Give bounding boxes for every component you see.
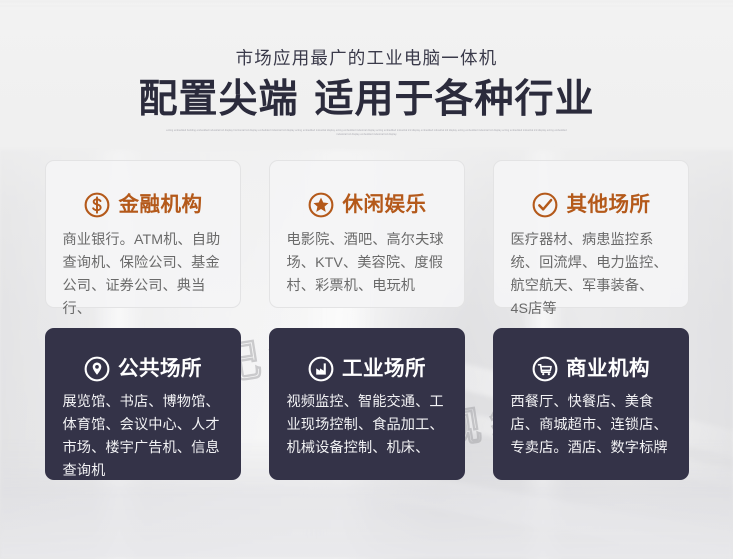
page-title-part-1: 配置尖端 — [138, 78, 298, 121]
card-financial-body: 商业银行。ATM机、自助查询机、保险公司、基金公司、证券公司、典当行、 — [63, 229, 223, 322]
card-other-body: 医疗器材、病患监控系统、回流焊、电力监控、航空航天、军事装备、4S店等 — [511, 229, 671, 322]
card-commercial[interactable]: 商业机构 西餐厅、快餐店、美食店、商城超市、连锁店、专卖店。酒店、数字标牌 — [493, 328, 689, 480]
banner-subtitle: 市场应用最广的工业电脑一体机 — [0, 48, 733, 69]
card-other-title: 其他场所 — [567, 195, 651, 216]
card-industrial-title: 工业场所 — [342, 359, 426, 380]
card-leisure-title: 休闲娱乐 — [343, 195, 427, 216]
card-commercial-title: 商业机构 — [566, 359, 650, 380]
card-public[interactable]: 公共场所 展览馆、书店、博物馆、体育馆、会议中心、人才市场、楼宇广告机、信息查询… — [45, 328, 241, 480]
location-pin-circle-icon — [83, 355, 111, 383]
factory-circle-icon — [307, 355, 335, 383]
card-financial-title: 金融机构 — [119, 195, 203, 216]
card-industrial[interactable]: 工业场所 视频监控、智能交通、工业现场控制、食品加工、机械设备控制、机床、 — [269, 328, 465, 480]
page-title-part-2: 适用于各种行业 — [315, 78, 595, 121]
dollar-circle-icon — [83, 191, 111, 219]
card-other[interactable]: 其他场所 医疗器材、病患监控系统、回流焊、电力监控、航空航天、军事装备、4S店等 — [493, 160, 689, 308]
card-industrial-body: 视频监控、智能交通、工业现场控制、食品加工、机械设备控制、机床、 — [287, 391, 447, 460]
card-industrial-head: 工业场所 — [287, 355, 447, 383]
industry-card-grid: 金融机构 商业银行。ATM机、自助查询机、保险公司、基金公司、证券公司、典当行、… — [45, 160, 689, 480]
card-public-title: 公共场所 — [118, 359, 202, 380]
banner-header: 市场应用最广的工业电脑一体机 配置尖端适用于各种行业 ecting embedd… — [0, 0, 733, 138]
page-title: 配置尖端适用于各种行业 — [0, 78, 733, 122]
card-financial-head: 金融机构 — [63, 191, 223, 219]
shopping-cart-circle-icon — [531, 355, 559, 383]
card-public-body: 展览馆、书店、博物馆、体育馆、会议中心、人才市场、楼宇广告机、信息查询机 — [63, 391, 223, 484]
card-leisure-body: 电影院、酒吧、高尔夫球场、KTV、美容院、度假村、彩票机、电玩机 — [287, 229, 447, 298]
card-commercial-body: 西餐厅、快餐店、美食店、商城超市、连锁店、专卖店。酒店、数字标牌 — [511, 391, 671, 460]
decorative-microtext: ecting embedded building embedded indust… — [165, 129, 569, 138]
card-financial[interactable]: 金融机构 商业银行。ATM机、自助查询机、保险公司、基金公司、证券公司、典当行、 — [45, 160, 241, 308]
card-other-head: 其他场所 — [511, 191, 671, 219]
check-circle-icon — [531, 191, 559, 219]
card-leisure-head: 休闲娱乐 — [287, 191, 447, 219]
promo-banner: 创视纪触 创视纪 市场应用最广的工业电脑一体机 配置尖端适用于各种行业 ecti… — [0, 0, 733, 559]
card-commercial-head: 商业机构 — [511, 355, 671, 383]
card-public-head: 公共场所 — [63, 355, 223, 383]
star-circle-icon — [307, 191, 335, 219]
card-leisure[interactable]: 休闲娱乐 电影院、酒吧、高尔夫球场、KTV、美容院、度假村、彩票机、电玩机 — [269, 160, 465, 308]
